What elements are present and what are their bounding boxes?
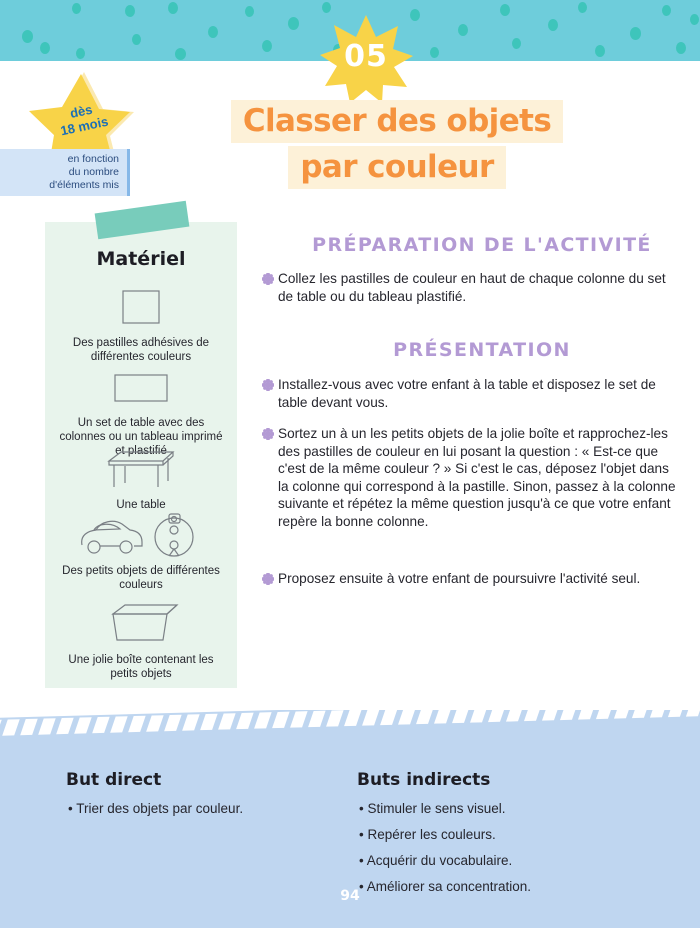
presentation-bullet: Installez-vous avec votre enfant à la ta… — [262, 376, 682, 411]
square-sticker-icon — [45, 280, 237, 334]
goal-indirect-item: • Repérer les couleurs. — [359, 826, 496, 843]
decorative-dot — [662, 5, 671, 16]
decorative-dot — [630, 27, 641, 40]
flower-bullet-icon — [262, 376, 278, 411]
goals-indirect-heading: Buts indirects — [357, 770, 490, 790]
tab-line-3: d'éléments mis — [49, 179, 119, 191]
decorative-dot — [40, 42, 50, 54]
quantity-note-text: en fonction du nombre d'éléments mis — [49, 153, 119, 192]
striped-divider — [0, 710, 700, 738]
presentation-bullet-text: Proposez ensuite à votre enfant de pours… — [278, 570, 640, 590]
page-title: Classer des objets par couleur — [222, 100, 572, 189]
material-item: Une table — [45, 442, 237, 512]
quantity-note-tab: en fonction du nombre d'éléments mis — [0, 149, 130, 196]
presentation-bullet-text: Sortez un à un les petits objets de la j… — [278, 425, 682, 531]
decorative-dot — [322, 2, 331, 13]
flower-bullet-icon — [262, 425, 278, 531]
presentation-bullet-text: Installez-vous avec votre enfant à la ta… — [278, 376, 682, 411]
preparation-bullet: Collez les pastilles de couleur en haut … — [262, 270, 682, 305]
material-item: Des petits objets de différentes couleur… — [45, 508, 237, 592]
material-item: Des pastilles adhésives de différentes c… — [45, 280, 237, 364]
decorative-dot — [458, 24, 468, 36]
decorative-dot — [595, 45, 605, 57]
material-item-caption: Des petits objets de différentes couleur… — [45, 564, 237, 592]
presentation-bullet: Sortez un à un les petits objets de la j… — [262, 425, 682, 531]
decorative-dot — [430, 47, 439, 58]
tab-line-2: du nombre — [69, 166, 119, 178]
flower-bullet-icon — [262, 270, 278, 305]
material-item: Une jolie boîte contenant les petits obj… — [45, 597, 237, 681]
decorative-dot — [168, 2, 178, 14]
decorative-dot — [175, 48, 186, 60]
section-heading-preparation: PRÉPARATION DE L'ACTIVITÉ — [272, 234, 692, 256]
decorative-dot — [132, 34, 141, 45]
page-title-line-1: Classer des objets — [231, 100, 563, 143]
decorative-dot — [676, 42, 686, 54]
activity-page: 05 dès 18 mois en fonction du nombre d'é… — [0, 0, 700, 928]
activity-number-star-badge: 05 — [318, 13, 414, 105]
decorative-dot — [512, 38, 521, 49]
decorative-dot — [690, 14, 699, 25]
page-number: 94 — [0, 888, 700, 904]
goals-direct-heading: But direct — [66, 770, 161, 790]
goal-indirect-item: • Acquérir du vocabulaire. — [359, 852, 512, 869]
placemat-rectangle-icon — [45, 360, 237, 414]
decorative-dot — [262, 40, 272, 52]
decorative-dot — [22, 30, 33, 43]
decorative-dot — [76, 48, 85, 59]
decorative-dot — [578, 2, 587, 13]
table-icon — [45, 442, 237, 496]
decorative-dot — [245, 6, 254, 17]
box-icon — [45, 597, 237, 651]
decorative-dot — [72, 3, 81, 14]
flower-bullet-icon — [262, 570, 278, 590]
decorative-dot — [500, 4, 510, 16]
activity-number: 05 — [344, 39, 388, 74]
goal-direct-item: • Trier des objets par couleur. — [68, 800, 243, 817]
decorative-dot — [288, 17, 299, 30]
decorative-dot — [125, 5, 135, 17]
section-heading-presentation: PRÉSENTATION — [272, 339, 692, 361]
toy-car-and-rattle-icon — [45, 508, 237, 562]
decorative-dot — [208, 26, 218, 38]
decorative-dot — [548, 19, 558, 31]
presentation-bullet: Proposez ensuite à votre enfant de pours… — [262, 570, 682, 590]
material-item-caption: Une jolie boîte contenant les petits obj… — [45, 653, 237, 681]
material-heading: Matériel — [45, 248, 237, 270]
preparation-bullet-text: Collez les pastilles de couleur en haut … — [278, 270, 682, 305]
tab-line-1: en fonction — [68, 153, 119, 165]
page-title-line-2: par couleur — [288, 146, 505, 189]
goal-indirect-item: • Stimuler le sens visuel. — [359, 800, 506, 817]
